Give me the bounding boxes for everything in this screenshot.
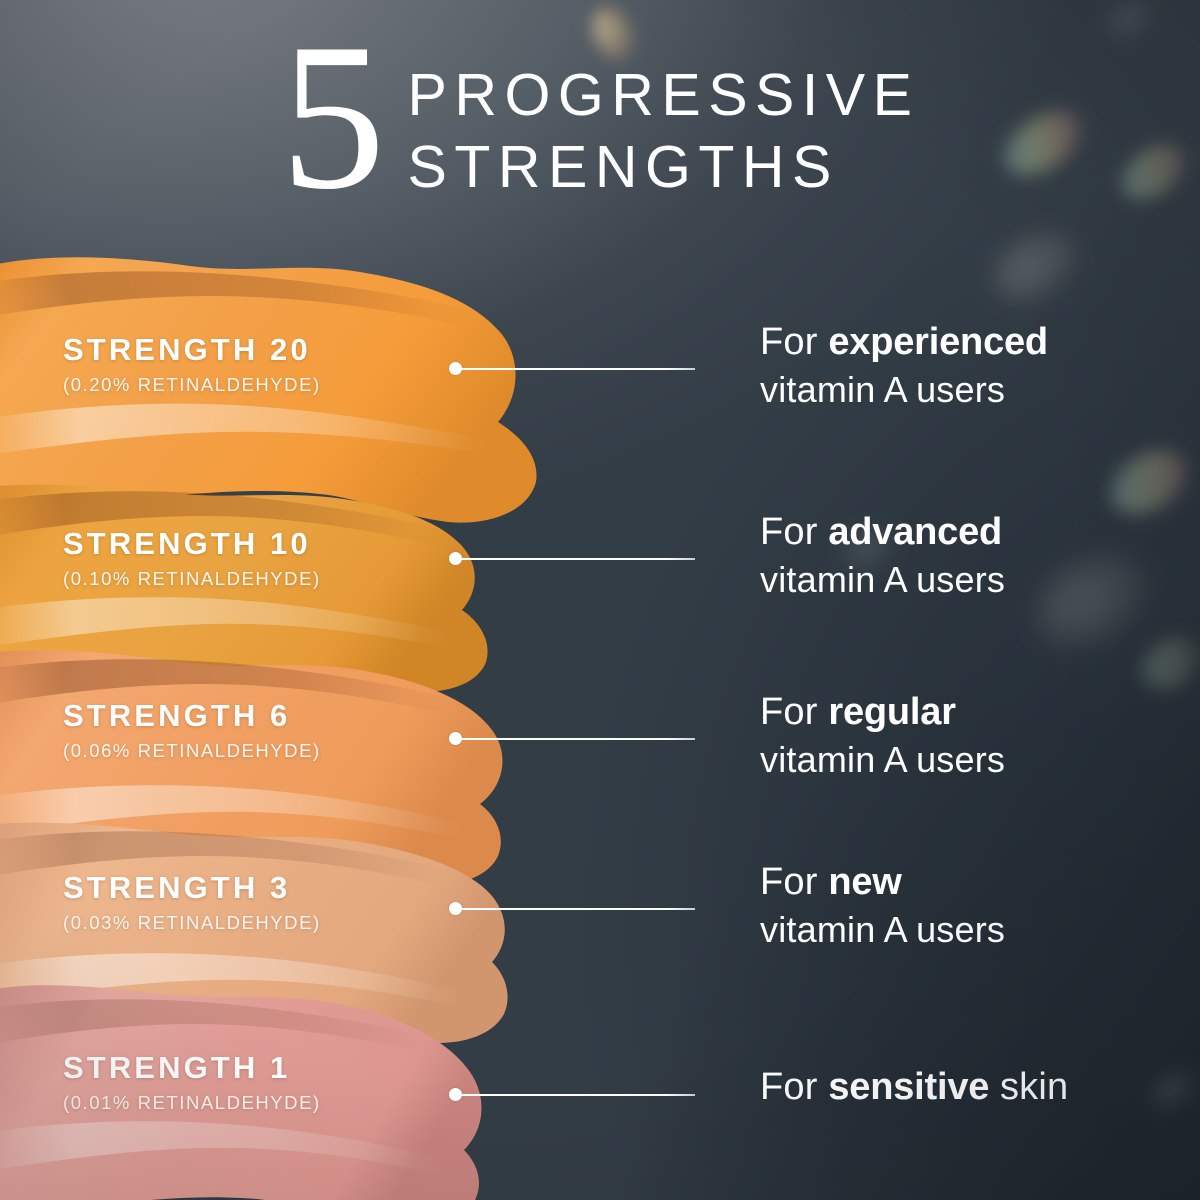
background-vignette — [0, 0, 1200, 1200]
promo-graphic: 5 PROGRESSIVE STRENGTHS STRENGTH 20 (0.2… — [0, 0, 1200, 1200]
